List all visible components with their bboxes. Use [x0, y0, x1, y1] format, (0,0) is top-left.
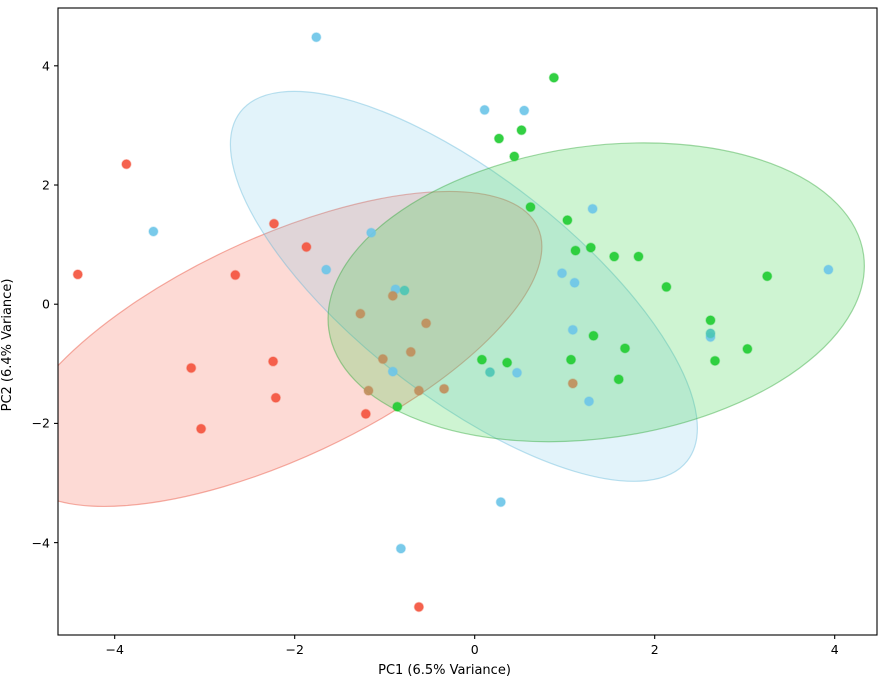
y-axis-label: PC2 (6.4% Variance) [0, 0, 18, 690]
scatter-point [197, 424, 206, 433]
y-tick-label: 0 [42, 297, 50, 312]
scatter-point [610, 252, 619, 261]
scatter-point [824, 265, 833, 274]
scatter-point [440, 384, 449, 393]
scatter-point [621, 344, 630, 353]
x-tick-label: −2 [285, 642, 303, 657]
scatter-point [378, 355, 387, 364]
scatter-point [406, 347, 415, 356]
x-axis-label: PC1 (6.5% Variance) [0, 663, 889, 678]
scatter-point [496, 498, 505, 507]
scatter-point [422, 319, 431, 328]
y-tick-label: −2 [32, 416, 50, 431]
scatter-point [510, 152, 519, 161]
scatter-point [526, 203, 535, 212]
plot-canvas [0, 0, 889, 690]
scatter-point [388, 291, 397, 300]
scatter-point [270, 219, 279, 228]
scatter-point [589, 331, 598, 340]
scatter-point [122, 160, 131, 169]
scatter-point [312, 33, 321, 42]
scatter-point [706, 316, 715, 325]
scatter-point [364, 386, 373, 395]
scatter-point [568, 379, 577, 388]
scatter-point [585, 397, 594, 406]
x-tick-label: 4 [831, 642, 839, 657]
y-tick-label: 4 [42, 58, 50, 73]
scatter-point [271, 393, 280, 402]
scatter-point [614, 375, 623, 384]
scatter-point [187, 363, 196, 372]
scatter-point [558, 269, 567, 278]
scatter-point [73, 270, 82, 279]
scatter-point [571, 246, 580, 255]
scatter-point [549, 73, 558, 82]
scatter-point [513, 368, 522, 377]
scatter-point [361, 409, 370, 418]
scatter-point [520, 106, 529, 115]
scatter-point [586, 243, 595, 252]
scatter-point [570, 278, 579, 287]
scatter-point [356, 309, 365, 318]
scatter-point [149, 227, 158, 236]
scatter-point [495, 134, 504, 143]
scatter-point [706, 329, 715, 338]
scatter-point [367, 228, 376, 237]
scatter-point [588, 204, 597, 213]
scatter-point [414, 386, 423, 395]
pca-scatter-figure: PC1 (6.5% Variance) PC2 (6.4% Variance) … [0, 0, 889, 690]
scatter-point [763, 272, 772, 281]
scatter-point [486, 368, 495, 377]
scatter-point [231, 271, 240, 280]
scatter-point [568, 325, 577, 334]
y-tick-label: −4 [32, 535, 50, 550]
scatter-point [393, 402, 402, 411]
scatter-point [517, 126, 526, 135]
scatter-point [743, 344, 752, 353]
scatter-point [477, 355, 486, 364]
scatter-point [662, 282, 671, 291]
x-tick-label: 0 [471, 642, 479, 657]
scatter-point [563, 216, 572, 225]
scatter-point [388, 367, 397, 376]
y-tick-label: 2 [42, 178, 50, 193]
scatter-point [711, 356, 720, 365]
scatter-point [503, 358, 512, 367]
scatter-point [567, 355, 576, 364]
scatter-point [322, 265, 331, 274]
scatter-point [634, 252, 643, 261]
scatter-point [302, 242, 311, 251]
scatter-point [269, 357, 278, 366]
scatter-point [400, 286, 409, 295]
x-tick-label: 2 [651, 642, 659, 657]
x-tick-label: −4 [105, 642, 123, 657]
scatter-point [414, 602, 423, 611]
scatter-point [396, 544, 405, 553]
scatter-point [480, 105, 489, 114]
